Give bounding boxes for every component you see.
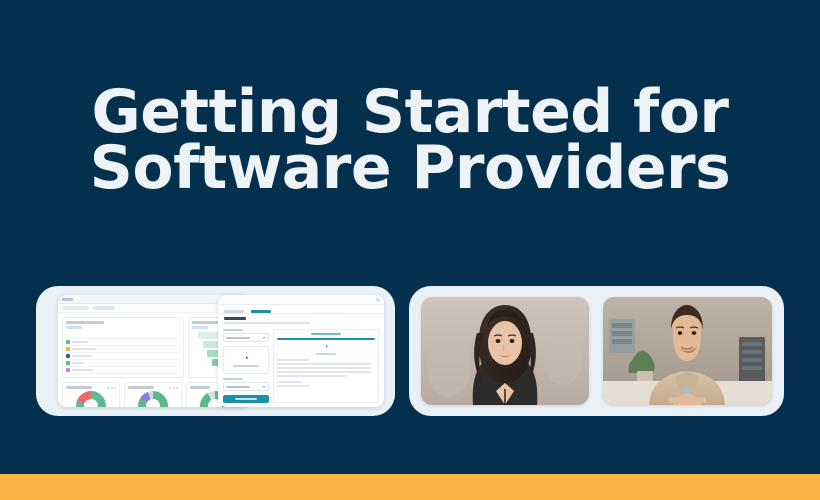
tab-general[interactable] xyxy=(224,310,244,313)
chevron-down-icon xyxy=(262,386,266,388)
table-row xyxy=(66,353,180,360)
email-branding-editor-screenshot: ◔ ◔ xyxy=(218,295,384,407)
table-row xyxy=(66,367,180,374)
presenter-man-thumbnail[interactable] xyxy=(603,297,772,405)
color-select[interactable] xyxy=(223,382,269,391)
bottom-accent-bar xyxy=(0,474,820,500)
editor-tab-bar xyxy=(218,305,384,314)
preview-accent-rule xyxy=(277,338,375,340)
editor-settings-panel: ◔ xyxy=(223,329,269,403)
panel-link[interactable] xyxy=(192,326,208,329)
editor-heading-block xyxy=(218,314,384,326)
presenter-woman-image xyxy=(421,297,589,405)
tab-branding[interactable] xyxy=(251,310,271,313)
video-thumbnails-card xyxy=(409,286,784,416)
donut-chart-2 xyxy=(124,382,182,407)
brand-logo-icon: ◔ xyxy=(243,354,248,363)
filter-chip[interactable] xyxy=(93,306,115,310)
panel-link[interactable] xyxy=(66,326,82,329)
email-preview-panel: ◔ xyxy=(273,329,379,403)
preview-body-line xyxy=(277,375,346,377)
filter-chip[interactable] xyxy=(63,306,89,310)
section-subtitle xyxy=(224,322,310,324)
donut-chart-1 xyxy=(62,382,120,407)
data-table xyxy=(66,332,180,374)
field-label xyxy=(223,378,243,380)
page-title: Getting Started for Software Providers xyxy=(22,84,798,197)
preview-signoff xyxy=(277,381,302,383)
slide-canvas: Getting Started for Software Providers xyxy=(0,0,820,500)
product-screenshots-card: ◔ ◔ xyxy=(36,286,395,416)
table-row xyxy=(66,339,180,346)
editor-window-bar xyxy=(218,295,384,305)
section-title xyxy=(224,317,246,320)
panel-title xyxy=(66,321,104,324)
table-row xyxy=(66,346,180,353)
preview-brand-logo-icon: ◔ xyxy=(277,344,375,351)
close-icon[interactable] xyxy=(376,298,380,302)
media-cards-row: ◔ ◔ xyxy=(36,286,784,416)
dashboard-logo xyxy=(62,298,73,301)
preview-body-line xyxy=(277,367,371,369)
logo-preview: ◔ xyxy=(223,346,269,374)
field-label xyxy=(223,329,243,331)
presenter-man-image xyxy=(603,297,772,405)
chevron-down-icon xyxy=(262,337,266,339)
save-changes-button[interactable] xyxy=(223,395,269,403)
preview-link[interactable] xyxy=(311,333,341,335)
preview-body-line xyxy=(277,363,371,365)
title-block: Getting Started for Software Providers xyxy=(0,84,820,197)
preview-brand-name xyxy=(316,353,336,355)
preview-greeting xyxy=(277,359,310,361)
table-row xyxy=(66,360,180,367)
preview-signature xyxy=(277,385,310,387)
presenter-woman-thumbnail[interactable] xyxy=(421,297,589,405)
template-select[interactable] xyxy=(223,333,269,342)
preview-body-line xyxy=(277,371,371,373)
editor-body: ◔ ◔ xyxy=(218,326,384,406)
table-panel xyxy=(62,317,184,378)
